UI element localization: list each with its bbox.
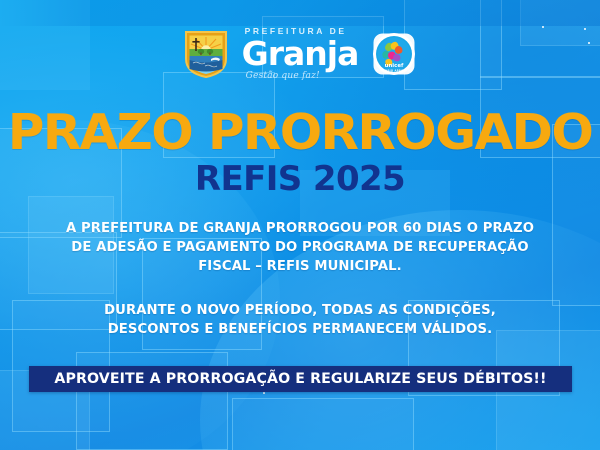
svg-text:unicef: unicef bbox=[385, 63, 404, 69]
brand-title: Granja bbox=[242, 37, 359, 70]
background-top-band bbox=[0, 0, 600, 26]
brand-lockup: Prefeitura de Granja Gestão que faz! bbox=[242, 27, 359, 81]
svg-text:MUNICIPIO APROVADO: MUNICIPIO APROVADO bbox=[376, 69, 413, 73]
brand-pretitle: Prefeitura de bbox=[245, 27, 347, 36]
page-title: PRAZO PRORROGADO bbox=[0, 108, 600, 157]
sparkle-dot bbox=[263, 392, 265, 394]
brand-header: Prefeitura de Granja Gestão que faz! bbox=[0, 28, 600, 80]
cta-banner: APROVEITE A PRORROGAÇÃO E REGULARIZE SEU… bbox=[29, 366, 572, 392]
body-paragraph-2: DURANTE O NOVO PERÍODO, TODAS AS CONDIÇÕ… bbox=[65, 301, 535, 339]
cta-banner-text: APROVEITE A PRORROGAÇÃO E REGULARIZE SEU… bbox=[54, 371, 546, 387]
selo-unicef-icon: unicef MUNICIPIO APROVADO bbox=[371, 31, 417, 77]
brand-tagline: Gestão que faz! bbox=[246, 72, 320, 81]
page-subtitle: REFIS 2025 bbox=[0, 162, 600, 196]
poster-canvas: Prefeitura de Granja Gestão que faz! bbox=[0, 0, 600, 450]
granja-coat-of-arms-icon bbox=[183, 29, 229, 79]
background-square bbox=[232, 398, 414, 450]
body-paragraph-1: A PREFEITURA DE GRANJA PRORROGOU POR 60 … bbox=[65, 219, 535, 276]
